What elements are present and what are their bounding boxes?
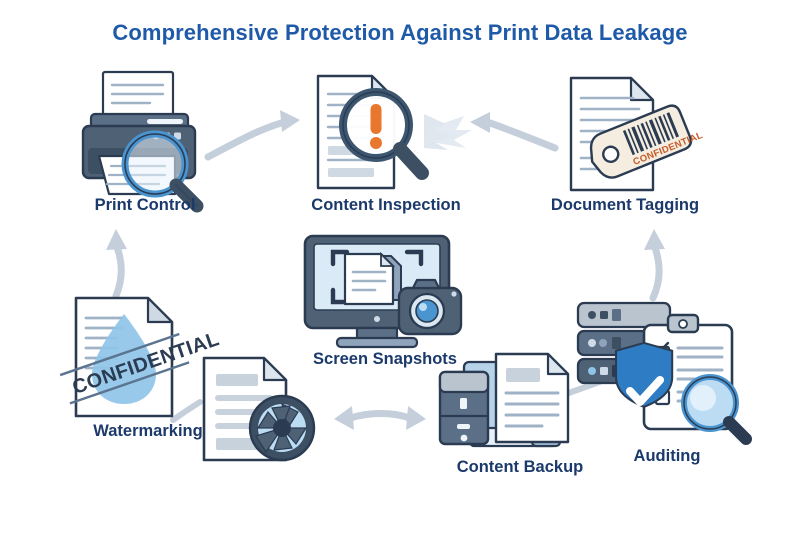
camera-aperture-icon — [250, 396, 314, 460]
file-cabinet-icon — [440, 372, 488, 444]
node-document-aperture[interactable] — [196, 352, 336, 472]
impact-burst-icon — [424, 114, 472, 150]
node-label-document-tagging: Document Tagging — [535, 196, 715, 215]
document-aperture-icon — [196, 352, 336, 472]
arrow-auditing-to-tagging — [644, 229, 665, 298]
node-label-content-backup: Content Backup — [430, 458, 610, 477]
node-document-tagging[interactable]: CONFIDENTIAL Document Tagging — [535, 68, 715, 218]
camera-icon — [399, 280, 461, 334]
page-title: Comprehensive Protection Against Print D… — [0, 20, 800, 46]
node-content-inspection[interactable]: Content Inspection — [296, 68, 476, 218]
exclamation-icon — [370, 104, 382, 149]
document-magnifier-alert-icon — [296, 68, 476, 198]
node-print-control[interactable]: Print Control — [55, 68, 235, 218]
infographic-canvas: Comprehensive Protection Against Print D… — [0, 0, 800, 533]
arrow-watermarking-to-print — [106, 229, 127, 296]
node-label-content-inspection: Content Inspection — [296, 196, 476, 215]
node-label-print-control: Print Control — [55, 196, 235, 215]
arrow-aperture-backup-bidirectional — [334, 406, 426, 430]
monitor-camera-capture-icon — [295, 232, 475, 352]
printer-magnifier-icon — [55, 68, 235, 198]
document-confidential-tag-icon: CONFIDENTIAL — [535, 68, 715, 198]
document-icon — [496, 354, 568, 442]
